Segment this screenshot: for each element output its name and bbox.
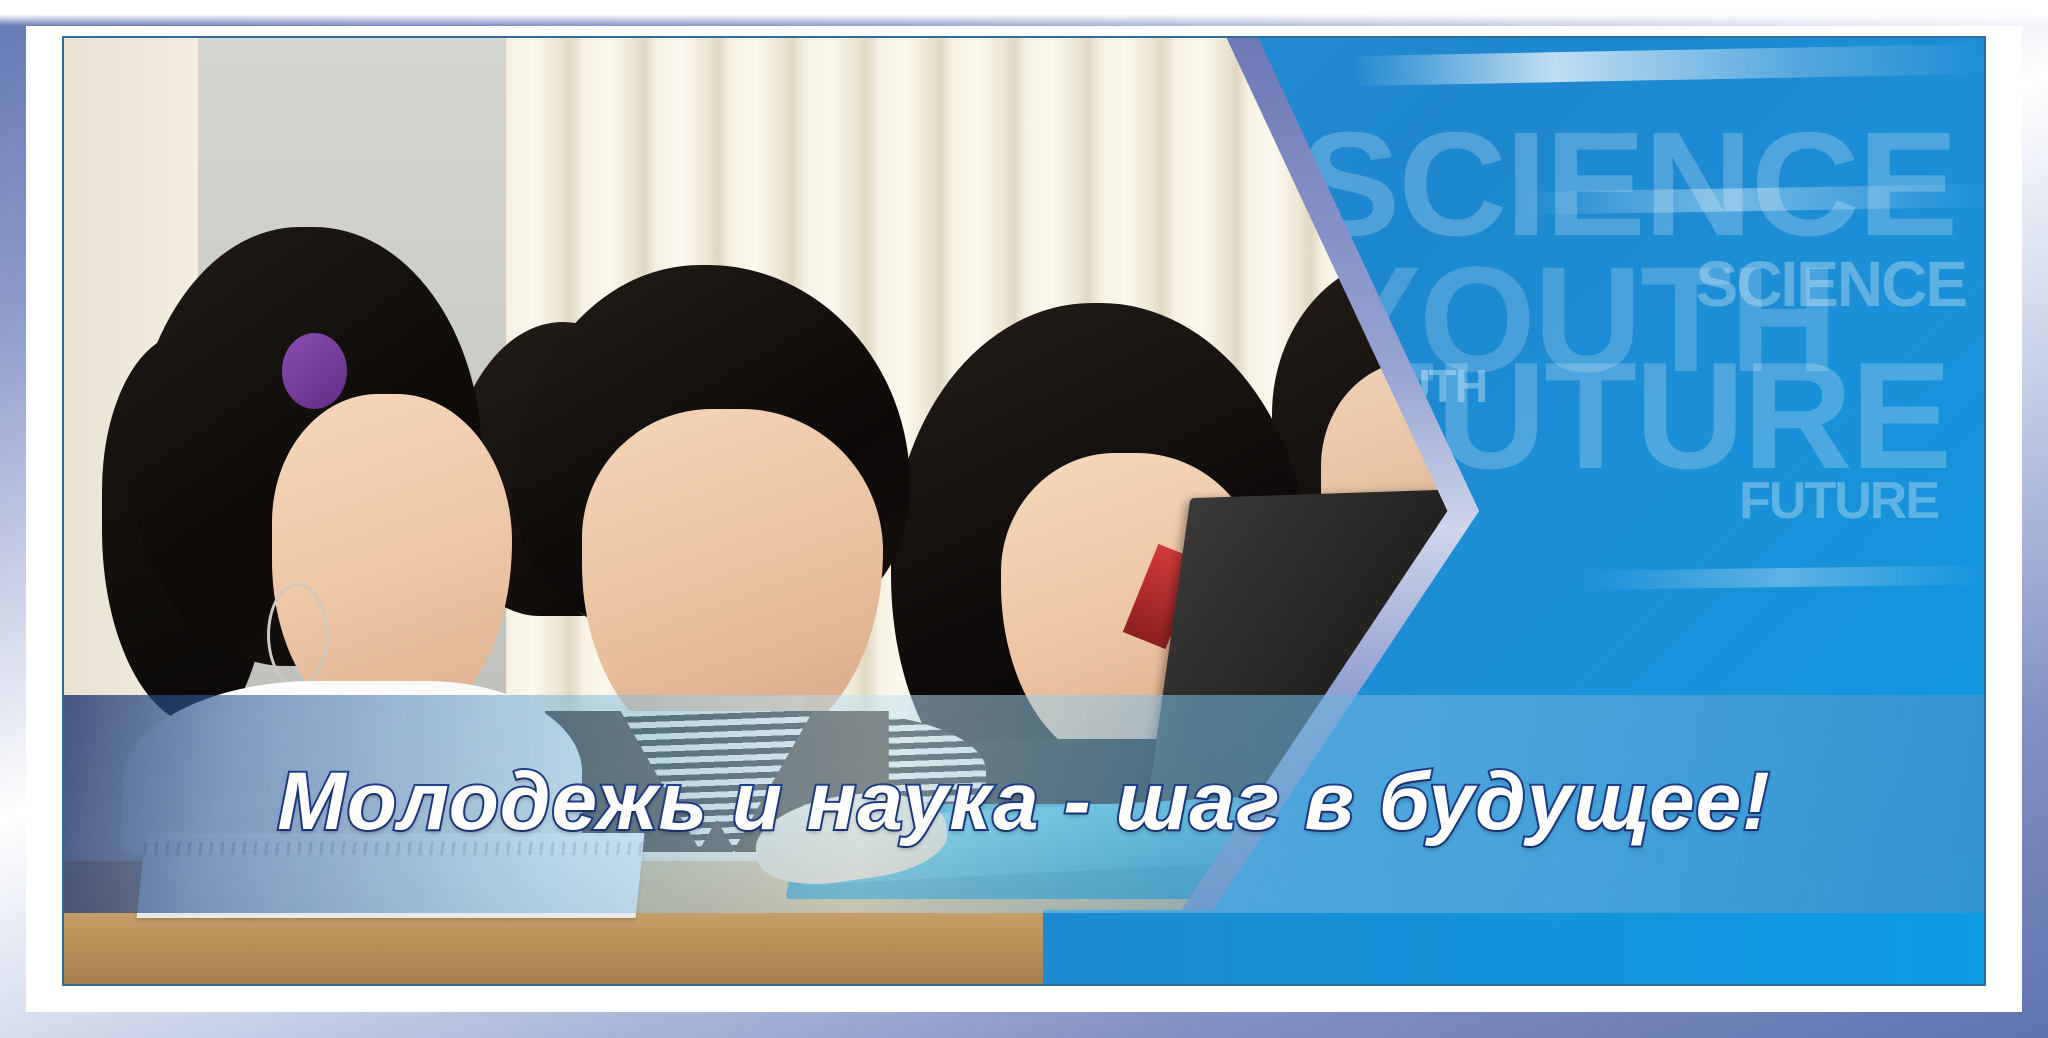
hair-tie (282, 333, 347, 409)
hoop-earring (267, 583, 328, 687)
bottom-blue-strip (1043, 910, 1984, 984)
poster-stage: emachines SCIENCE SCIENCE YOUTH YOUTH FU… (0, 0, 2048, 1038)
light-streak-top (1352, 44, 1986, 87)
poster-canvas: emachines SCIENCE SCIENCE YOUTH YOUTH FU… (62, 36, 1986, 986)
title-banner: Молодежь и наука - шаг в будущее! (64, 695, 1984, 913)
frame-top-highlight (0, 0, 2048, 26)
poster-title: Молодежь и наука - шаг в будущее! (277, 755, 1770, 849)
light-streak-lower (1585, 565, 1986, 590)
watermark-science-large: SCIENCE (1300, 124, 1957, 245)
watermark-future-small: FUTURE (1739, 480, 1938, 523)
